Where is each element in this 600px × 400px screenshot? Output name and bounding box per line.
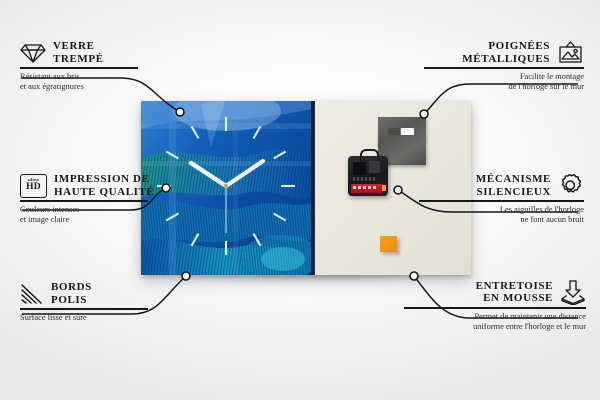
callout-poignees-metalliques: POIGNÉES MÉTALLIQUES Facilite le montage… — [424, 40, 584, 92]
callout-subtitle-line1: Couleurs intenses — [20, 205, 170, 215]
callout-title-line1: POIGNÉES — [462, 40, 550, 53]
ultra-hd-badge-icon: ultra HD — [20, 174, 47, 198]
ultra-hd-badge-large-text: HD — [26, 183, 41, 193]
callout-subtitle-line1: Les aiguilles de l'horloge — [419, 205, 584, 215]
mechanism-housing — [369, 161, 380, 173]
callout-header: MÉCANISME SILENCIEUX — [419, 173, 584, 198]
hanging-frame-icon — [557, 41, 584, 65]
callout-title-line1: VERRE — [53, 40, 104, 53]
hanger-slot — [388, 128, 414, 135]
callout-header: VERRE TREMPÉ — [20, 40, 160, 65]
mechanism-detail — [353, 177, 377, 181]
battery-terminal — [382, 185, 386, 191]
callout-title-line1: BORDS — [51, 281, 92, 294]
diagonal-lines-icon — [20, 283, 44, 305]
silent-clock-mechanism — [348, 156, 388, 196]
callout-subtitle-line1: Permet de maintenir une distance — [404, 312, 586, 322]
callout-rule — [20, 308, 148, 310]
callout-rule — [404, 307, 586, 309]
callout-verre-trempe: VERRE TREMPÉ Résistant aux bris et aux é… — [20, 40, 160, 92]
callout-title-line1: ENTRETOISE — [476, 280, 553, 293]
callout-header: POIGNÉES MÉTALLIQUES — [424, 40, 584, 65]
mechanism-dial — [353, 162, 366, 175]
callout-subtitle-line2: et image claire — [20, 215, 170, 225]
callout-rule — [424, 67, 584, 69]
callout-mecanisme-silencieux: MÉCANISME SILENCIEUX Les aiguilles de l'… — [419, 173, 584, 225]
callout-subtitle-line1: Surface lisse et sûre — [20, 313, 170, 323]
callout-title-line2: EN MOUSSE — [476, 292, 553, 305]
foam-spacer — [380, 236, 397, 252]
callout-bords-polis: BORDS POLIS Surface lisse et sûre — [20, 281, 170, 323]
arrow-down-pad-icon — [560, 279, 586, 305]
callout-rule — [20, 200, 148, 202]
callout-title-line1: MÉCANISME — [476, 173, 551, 186]
callout-title-line2: SILENCIEUX — [476, 186, 551, 199]
callout-title-line2: MÉTALLIQUES — [462, 53, 550, 66]
callout-header: ENTRETOISE EN MOUSSE — [404, 279, 586, 305]
battery — [351, 184, 383, 193]
callout-subtitle-line2: ne font aucun bruit — [419, 215, 584, 225]
callout-entretoise-en-mousse: ENTRETOISE EN MOUSSE Permet de maintenir… — [404, 279, 586, 332]
callout-subtitle-line1: Résistant aux bris — [20, 72, 160, 82]
callout-header: ultra HD IMPRESSION DE HAUTE QUALITÉ — [20, 173, 170, 198]
callout-title-line1: IMPRESSION DE — [54, 173, 154, 186]
callout-title-line2: TREMPÉ — [53, 53, 104, 66]
callout-header: BORDS POLIS — [20, 281, 170, 306]
callout-rule — [419, 200, 584, 202]
callout-subtitle-line2: de l'horloge sur le mur — [424, 82, 584, 92]
callout-impression-haute-qualite: ultra HD IMPRESSION DE HAUTE QUALITÉ Cou… — [20, 173, 170, 225]
diamond-icon — [20, 42, 46, 64]
gear-icon — [558, 173, 584, 198]
mechanism-hanging-loop — [360, 149, 379, 161]
callout-title-line2: POLIS — [51, 294, 92, 307]
callout-subtitle-line1: Facilite le montage — [424, 72, 584, 82]
battery-label — [353, 186, 377, 189]
callout-rule — [20, 67, 138, 69]
callout-title-line2: HAUTE QUALITÉ — [54, 186, 154, 199]
infographic-canvas: VERRE TREMPÉ Résistant aux bris et aux é… — [0, 0, 600, 400]
callout-subtitle-line2: uniforme entre l'horloge et le mur — [404, 322, 586, 332]
callout-subtitle-line2: et aux égratignures — [20, 82, 160, 92]
